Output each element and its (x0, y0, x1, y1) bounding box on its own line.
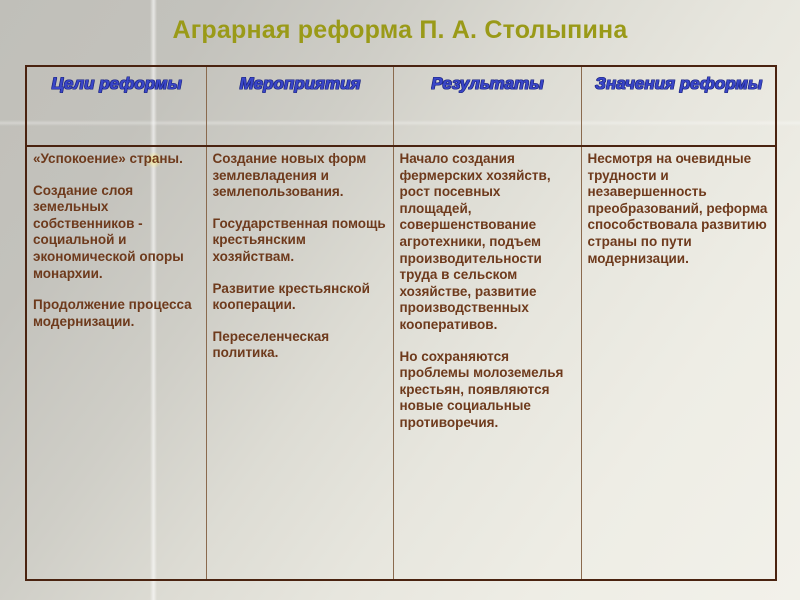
column-header-label: Мероприятия (213, 73, 388, 94)
column-header-label: Цели реформы (33, 73, 201, 94)
cell-significance: Несмотря на очевидные трудности и незаве… (581, 146, 776, 580)
reform-comparison-table: Цели реформы Мероприятия Результаты Знач… (25, 65, 777, 581)
cell-paragraph: «Успокоение» страны. (33, 151, 201, 168)
cell-paragraph: Начало создания фермерских хозяйств, рос… (400, 151, 576, 334)
cell-paragraphs: «Успокоение» страны.Создание слоя земель… (33, 151, 201, 330)
column-header-results: Результаты (393, 66, 581, 146)
table-row: «Успокоение» страны.Создание слоя земель… (26, 146, 776, 580)
cell-paragraph: Но сохраняются проблемы молоземелья крес… (400, 349, 576, 432)
column-header-label: Результаты (400, 73, 576, 94)
column-header-measures: Мероприятия (206, 66, 393, 146)
cell-paragraph: Переселенческая политика. (213, 329, 388, 362)
cell-paragraph: Несмотря на очевидные трудности и незаве… (588, 151, 771, 267)
table-header-row: Цели реформы Мероприятия Результаты Знач… (26, 66, 776, 146)
column-header-label: Значения реформы (588, 73, 771, 94)
cell-results: Начало создания фермерских хозяйств, рос… (393, 146, 581, 580)
cell-paragraph: Создание слоя земельных собственников - … (33, 183, 201, 283)
page-title: Аграрная реформа П. А. Столыпина (0, 16, 800, 45)
column-header-significance: Значения реформы (581, 66, 776, 146)
cell-paragraphs: Несмотря на очевидные трудности и незаве… (588, 151, 771, 267)
cell-measures: Создание новых форм землевладения и земл… (206, 146, 393, 580)
column-header-goals: Цели реформы (26, 66, 206, 146)
cell-paragraph: Создание новых форм землевладения и земл… (213, 151, 388, 201)
cell-paragraphs: Начало создания фермерских хозяйств, рос… (400, 151, 576, 432)
cell-goals: «Успокоение» страны.Создание слоя земель… (26, 146, 206, 580)
cell-paragraph: Государственная помощь крестьянским хозя… (213, 216, 388, 266)
cell-paragraphs: Создание новых форм землевладения и земл… (213, 151, 388, 362)
cell-paragraph: Развитие крестьянской кооперации. (213, 281, 388, 314)
presentation-slide: Аграрная реформа П. А. Столыпина Цели ре… (0, 0, 800, 600)
cell-paragraph: Продолжение процесса модернизации. (33, 297, 201, 330)
